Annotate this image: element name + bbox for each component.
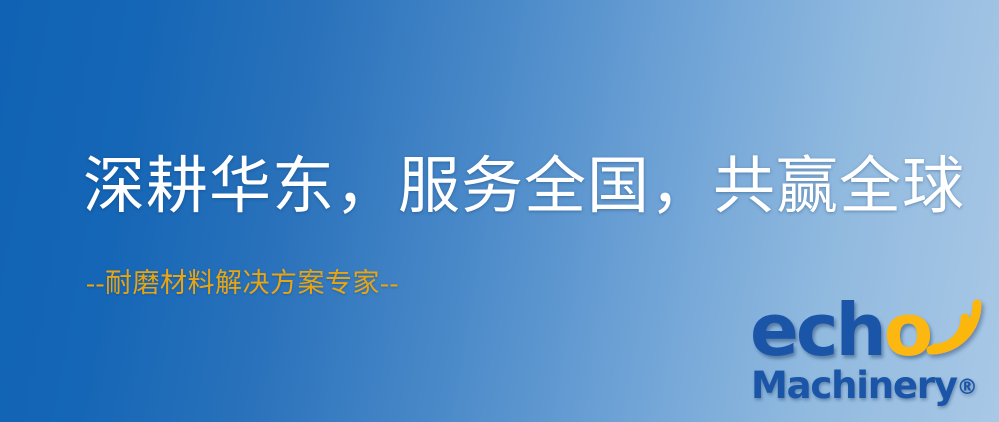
logo-wordmark: echo	[750, 294, 932, 366]
echo-machinery-logo: echo Machinery®	[745, 288, 995, 420]
signal-waves-icon	[927, 290, 993, 352]
logo-subword: Machinery®	[751, 366, 978, 407]
banner-headline: 深耕华东，服务全国，共赢全球	[83, 150, 965, 224]
logo-subword-text: Machinery	[751, 364, 957, 407]
logo-wordmark-prefix: ech	[750, 288, 884, 372]
banner-subtitle: --耐磨材料解决方案专家--	[86, 266, 399, 300]
logo-wordmark-o: o	[884, 288, 932, 372]
registered-trademark-icon: ®	[957, 375, 978, 399]
promotional-banner: 深耕华东，服务全国，共赢全球 --耐磨材料解决方案专家-- echo Machi…	[0, 0, 999, 422]
signal-arc-outer	[931, 304, 977, 350]
